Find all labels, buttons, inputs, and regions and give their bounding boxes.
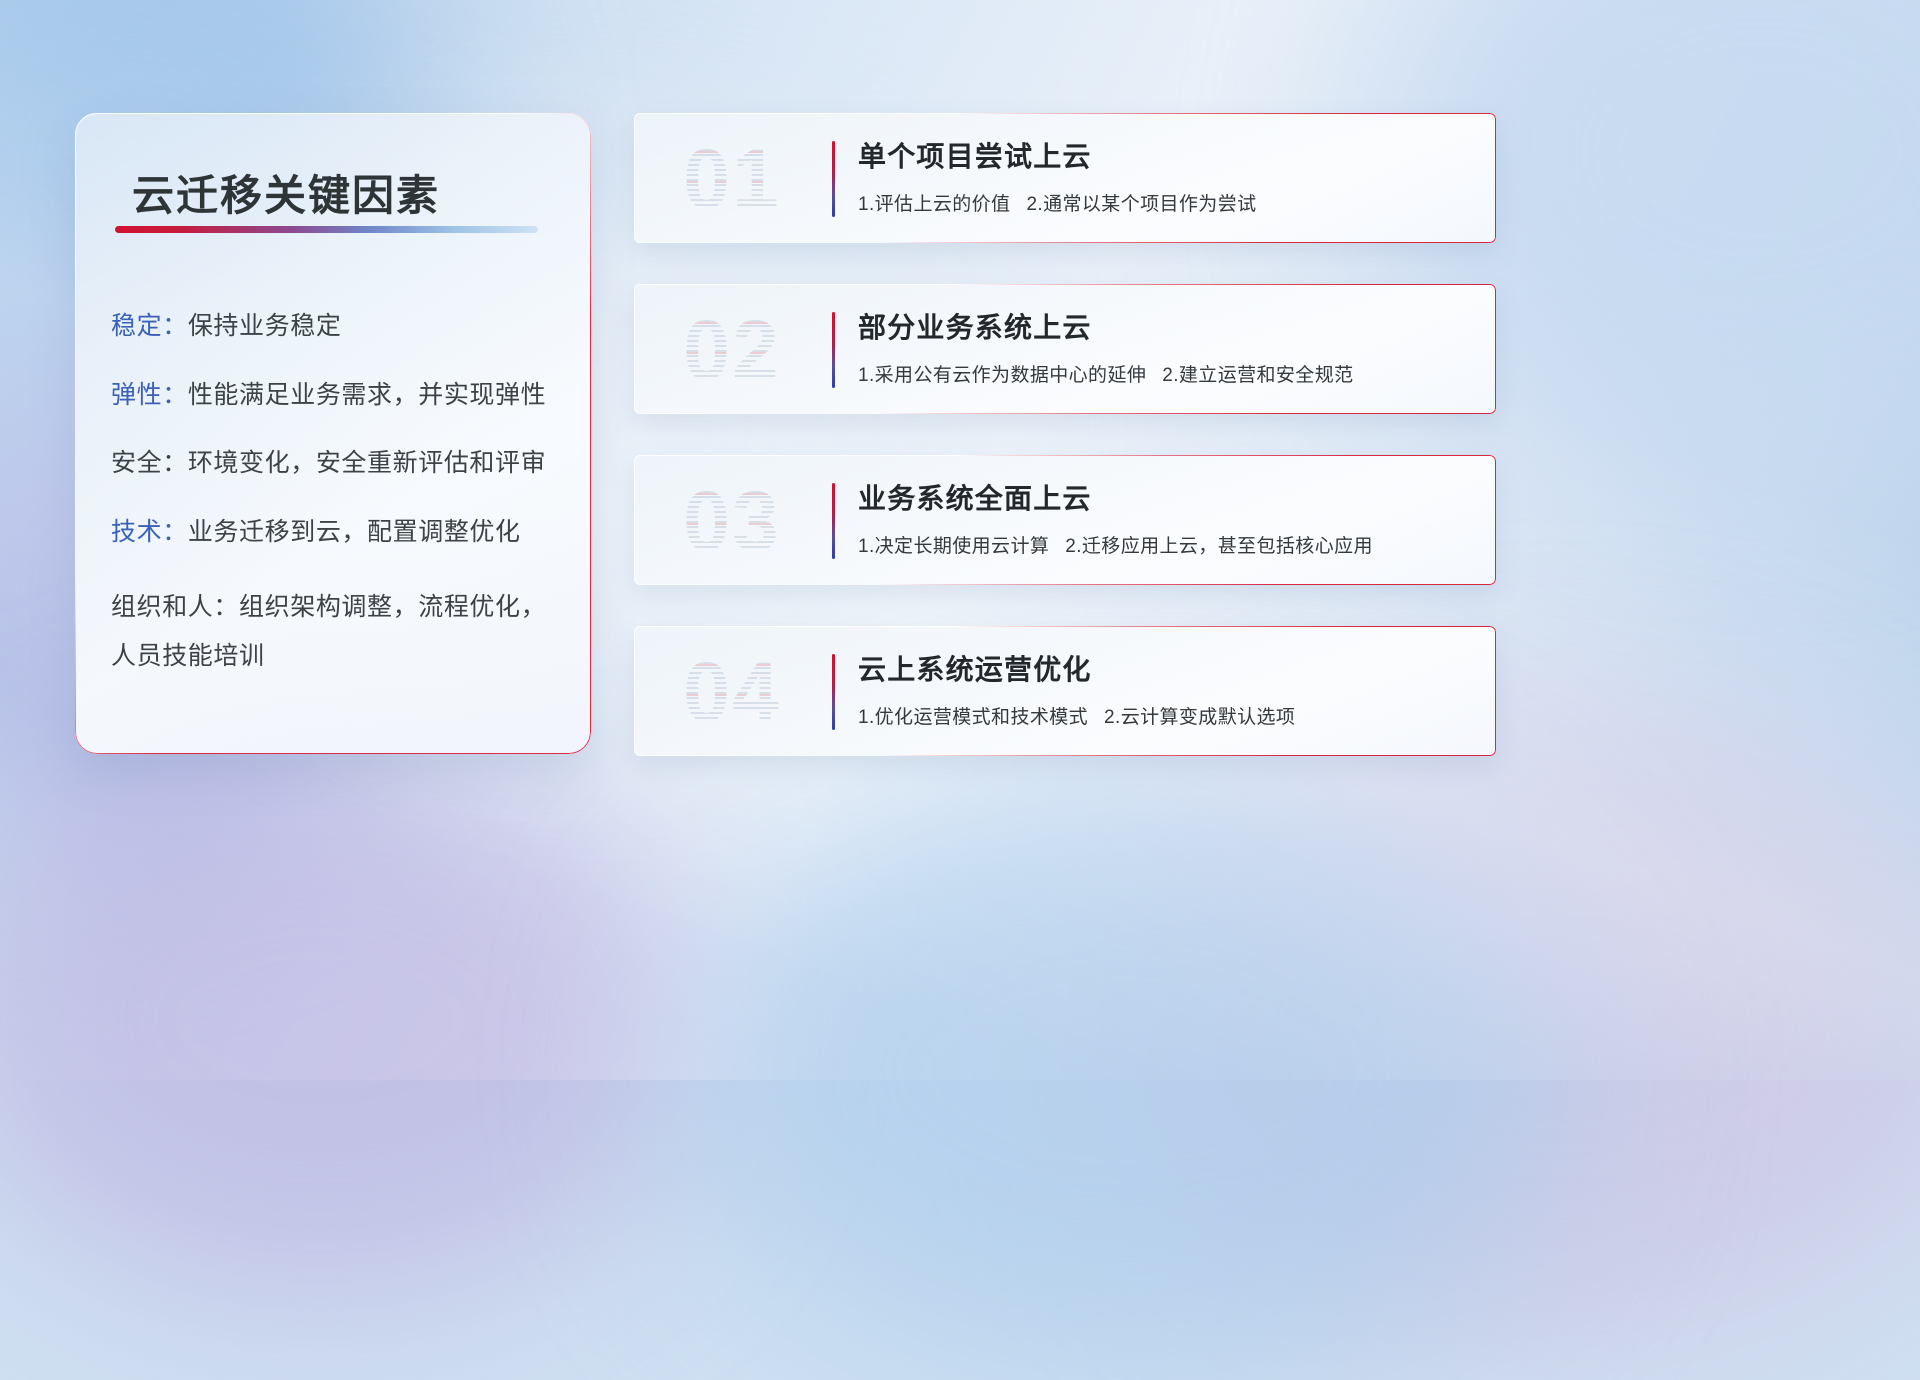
list-item-key: 安全：	[111, 449, 188, 477]
stage-card-list: 01 01 单个项目尝试上云 1.评估上云的价值2.通常以某个项目作为尝试 02…	[634, 113, 1496, 797]
list-item: 弹性：性能满足业务需求，并实现弹性	[111, 378, 571, 413]
list-item: 组织和人：组织架构调整，流程优化，人员技能培训	[111, 583, 571, 681]
stage-point-2: 2.迁移应用上云，甚至包括核心应用	[1065, 536, 1373, 557]
stage-point-1: 1.优化运营模式和技术模式	[858, 707, 1088, 728]
stage-point-1: 1.采用公有云作为数据中心的延伸	[858, 365, 1146, 386]
list-item-key: 弹性：	[111, 381, 188, 409]
stage-number-ghost-tint: 03	[662, 471, 802, 571]
accent-divider-bar	[832, 141, 835, 217]
stage-description: 1.评估上云的价值2.通常以某个项目作为尝试	[858, 189, 1257, 216]
stage-card[interactable]: 01 01 单个项目尝试上云 1.评估上云的价值2.通常以某个项目作为尝试	[634, 113, 1496, 243]
stage-description: 1.采用公有云作为数据中心的延伸2.建立运营和安全规范	[858, 360, 1354, 387]
list-item: 稳定：保持业务稳定	[111, 309, 571, 344]
accent-divider-bar	[832, 312, 835, 388]
stage-title: 部分业务系统上云	[858, 306, 1092, 346]
stage-number-ghost-tint: 01	[662, 129, 802, 229]
stage-point-1: 1.评估上云的价值	[858, 194, 1010, 215]
list-item: 安全：环境变化，安全重新评估和评审	[111, 446, 571, 481]
list-item-text: 性能满足业务需求，并实现弹性	[188, 381, 546, 409]
list-item-key: 技术：	[111, 518, 188, 546]
key-factors-panel: 云迁移关键因素 稳定：保持业务稳定 弹性：性能满足业务需求，并实现弹性 安全：环…	[75, 113, 591, 754]
stage-card[interactable]: 03 03 业务系统全面上云 1.决定长期使用云计算2.迁移应用上云，甚至包括核…	[634, 455, 1496, 585]
stage-description: 1.优化运营模式和技术模式2.云计算变成默认选项	[858, 702, 1295, 729]
stage-card[interactable]: 04 04 云上系统运营优化 1.优化运营模式和技术模式2.云计算变成默认选项	[634, 626, 1496, 756]
list-item-key: 组织和人：	[111, 593, 239, 621]
stage-card[interactable]: 02 02 部分业务系统上云 1.采用公有云作为数据中心的延伸2.建立运营和安全…	[634, 284, 1496, 414]
stage-point-2: 2.通常以某个项目作为尝试	[1026, 194, 1256, 215]
list-item-text: 环境变化，安全重新评估和评审	[188, 449, 546, 477]
stage-title: 云上系统运营优化	[858, 648, 1092, 688]
accent-divider-bar	[832, 483, 835, 559]
title-underline-rule	[115, 226, 538, 233]
stage-title: 单个项目尝试上云	[858, 135, 1092, 175]
stage-description: 1.决定长期使用云计算2.迁移应用上云，甚至包括核心应用	[858, 531, 1373, 558]
stage-number-ghost-tint: 02	[662, 300, 802, 400]
panel-title: 云迁移关键因素	[132, 162, 440, 223]
stage-number-ghost-tint: 04	[662, 642, 802, 742]
stage-point-1: 1.决定长期使用云计算	[858, 536, 1049, 557]
stage-title: 业务系统全面上云	[858, 477, 1092, 517]
list-item-key: 稳定：	[111, 312, 188, 340]
key-factors-list: 稳定：保持业务稳定 弹性：性能满足业务需求，并实现弹性 安全：环境变化，安全重新…	[111, 309, 571, 715]
list-item: 技术：业务迁移到云，配置调整优化	[111, 515, 571, 550]
accent-divider-bar	[832, 654, 835, 730]
list-item-text: 保持业务稳定	[188, 312, 342, 340]
list-item-text: 业务迁移到云，配置调整优化	[188, 518, 521, 546]
stage-point-2: 2.建立运营和安全规范	[1162, 365, 1353, 386]
stage-point-2: 2.云计算变成默认选项	[1104, 707, 1295, 728]
